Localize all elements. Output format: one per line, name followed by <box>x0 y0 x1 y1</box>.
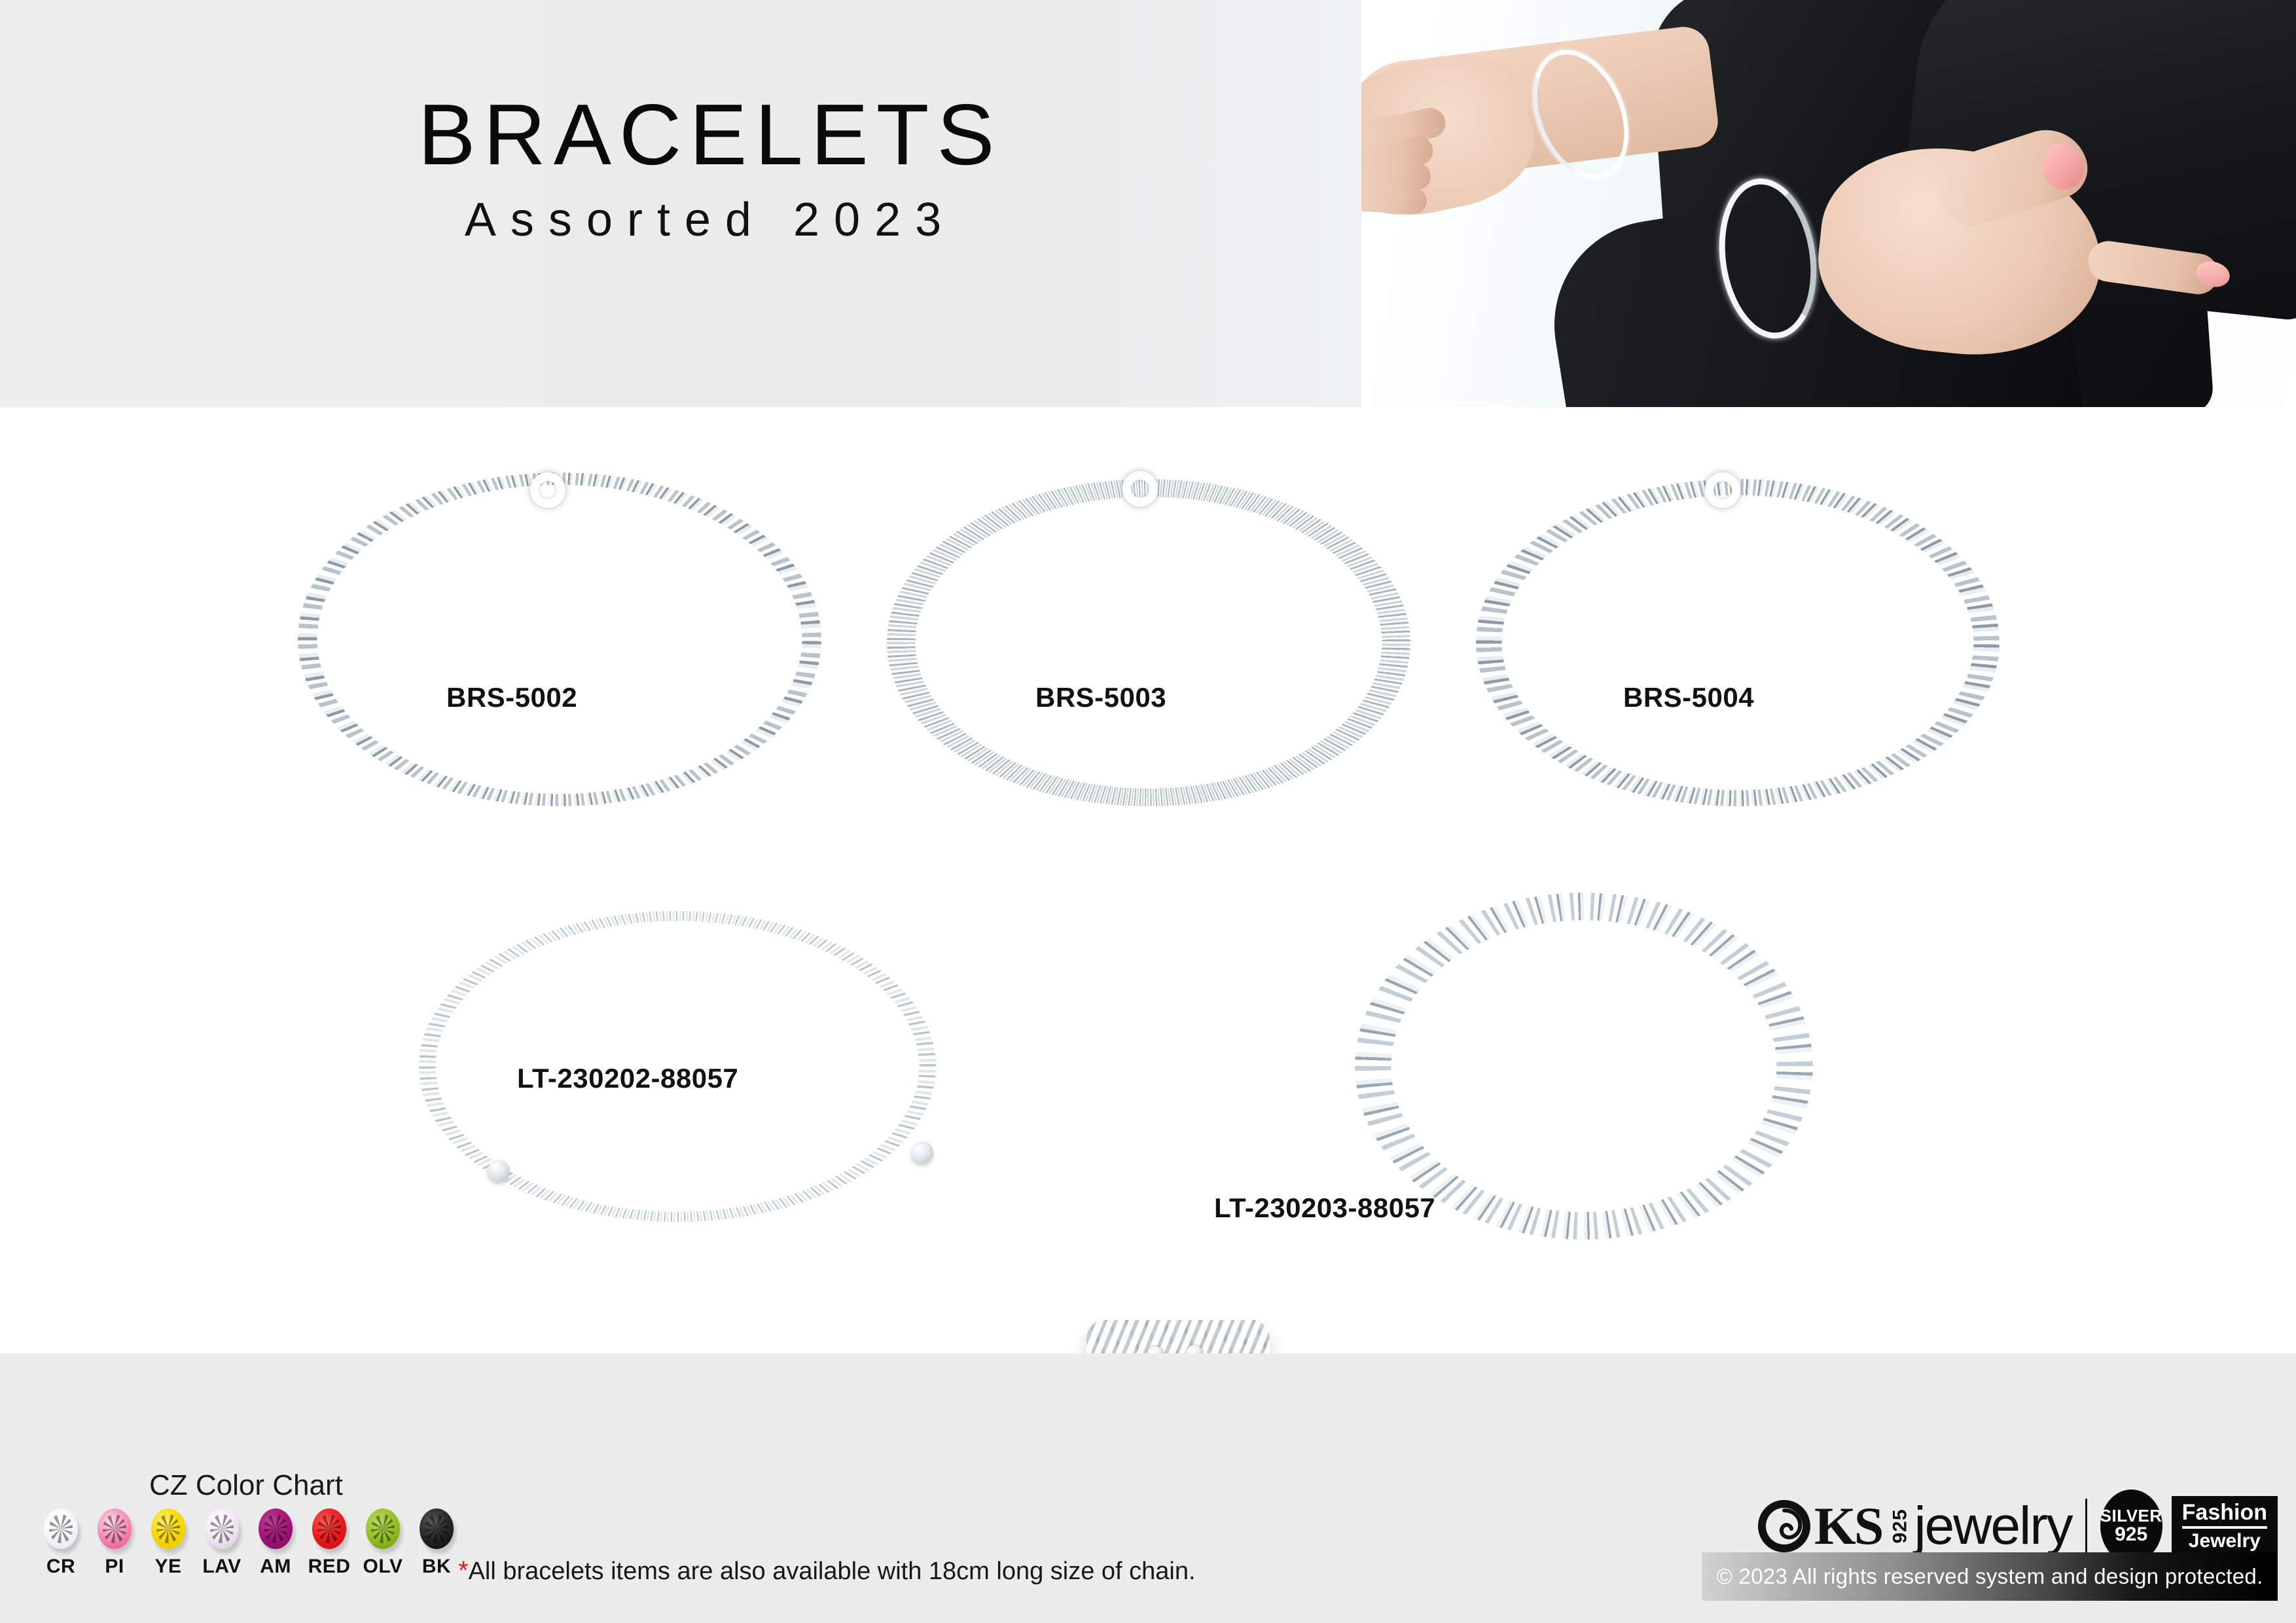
brand-name-jewelry: jewelry <box>1914 1499 2072 1553</box>
filigree-bangle-image <box>1355 893 1813 1240</box>
brand-divider <box>2085 1499 2087 1554</box>
cz-gem-code: BK <box>415 1556 458 1578</box>
cz-gem-ye[interactable]: YE <box>147 1508 190 1578</box>
chain-bracelet-image <box>298 473 821 806</box>
cz-color-chart-title: CZ Color Chart <box>149 1469 343 1502</box>
product-label: BRS-5002 <box>446 682 577 713</box>
gem-icon-cr <box>44 1508 78 1549</box>
product-grid: BRS-5002 BRS-5003 BRS-5004 LT-230202-880… <box>0 407 2296 1353</box>
brand-jewelry-text: jewelry <box>1914 1496 2072 1556</box>
brand-name-925: 925 <box>1890 1508 1912 1543</box>
finger-shape <box>1361 183 1427 215</box>
cz-gem-bk[interactable]: BK <box>415 1508 458 1578</box>
fashion-jewelry-badge: Fashion Jewelry <box>2172 1496 2278 1556</box>
cz-gem-cr[interactable]: CR <box>39 1508 82 1578</box>
gem-icon-lav <box>205 1508 239 1549</box>
clasp-icon <box>530 473 565 508</box>
product-label: LT-230202-88057 <box>517 1063 738 1094</box>
cz-gem-code: AM <box>254 1556 297 1578</box>
copyright-bar: © 2023 All rights reserved system and de… <box>1702 1552 2278 1601</box>
cz-gem-lav[interactable]: LAV <box>200 1508 243 1578</box>
gem-icon-bk <box>420 1508 454 1549</box>
model-photo <box>1361 0 2296 407</box>
header-banner: BRACELETS Assorted 2023 <box>0 0 2296 407</box>
bangle-end-bead <box>488 1160 510 1182</box>
cz-gem-olv[interactable]: OLV <box>361 1508 404 1578</box>
chain-bracelet-image <box>1476 479 2000 806</box>
page-subtitle: Assorted 2023 <box>0 196 1420 243</box>
clasp-icon <box>1705 473 1740 508</box>
brand-name-ks: KS <box>1814 1499 1882 1553</box>
cz-gem-code: YE <box>147 1556 190 1578</box>
product-label: BRS-5004 <box>1623 682 1754 713</box>
cz-gem-red[interactable]: RED <box>308 1508 351 1578</box>
fashion-badge-line2: Jewelry <box>2189 1529 2261 1552</box>
gem-icon-ye <box>151 1508 185 1549</box>
cz-gem-code: OLV <box>361 1556 404 1578</box>
cz-gem-am[interactable]: AM <box>254 1508 297 1578</box>
gem-icon-red <box>312 1508 346 1549</box>
silver-badge-line2: 925 <box>2115 1525 2147 1545</box>
fashion-badge-line1: Fashion <box>2182 1501 2267 1529</box>
gem-icon-olv <box>366 1508 400 1549</box>
gem-icon-pi <box>98 1508 132 1549</box>
product-label: BRS-5003 <box>1035 682 1166 713</box>
clasp-icon <box>1122 471 1158 507</box>
header-title-block: BRACELETS Assorted 2023 <box>0 92 1420 243</box>
bangle-end-bead <box>911 1141 933 1164</box>
cz-gem-code: RED <box>308 1556 351 1578</box>
footnote-text: All bracelets items are also available w… <box>469 1558 1196 1585</box>
copyright-text: © 2023 All rights reserved system and de… <box>1716 1564 2263 1589</box>
cz-gem-code: CR <box>39 1556 82 1578</box>
cz-gem-code: PI <box>93 1556 136 1578</box>
footnote-asterisk: * <box>458 1556 469 1585</box>
catalog-page: BRACELETS Assorted 2023 <box>0 0 2296 1623</box>
swirl-icon <box>1754 1496 1814 1556</box>
page-title: BRACELETS <box>0 92 1420 178</box>
gem-icon-am <box>259 1508 293 1549</box>
cz-gem-pi[interactable]: PI <box>93 1508 136 1578</box>
cz-gem-code: LAV <box>200 1556 243 1578</box>
silver-badge-line1: SILVER <box>2100 1507 2162 1525</box>
mesh-bracelet-image <box>887 479 1410 806</box>
cz-gem-row: CR PI YE LAV AM <box>39 1508 458 1578</box>
product-label: LT-230203-88057 <box>1214 1192 1435 1224</box>
footnote: *All bracelets items are also available … <box>458 1556 1196 1586</box>
